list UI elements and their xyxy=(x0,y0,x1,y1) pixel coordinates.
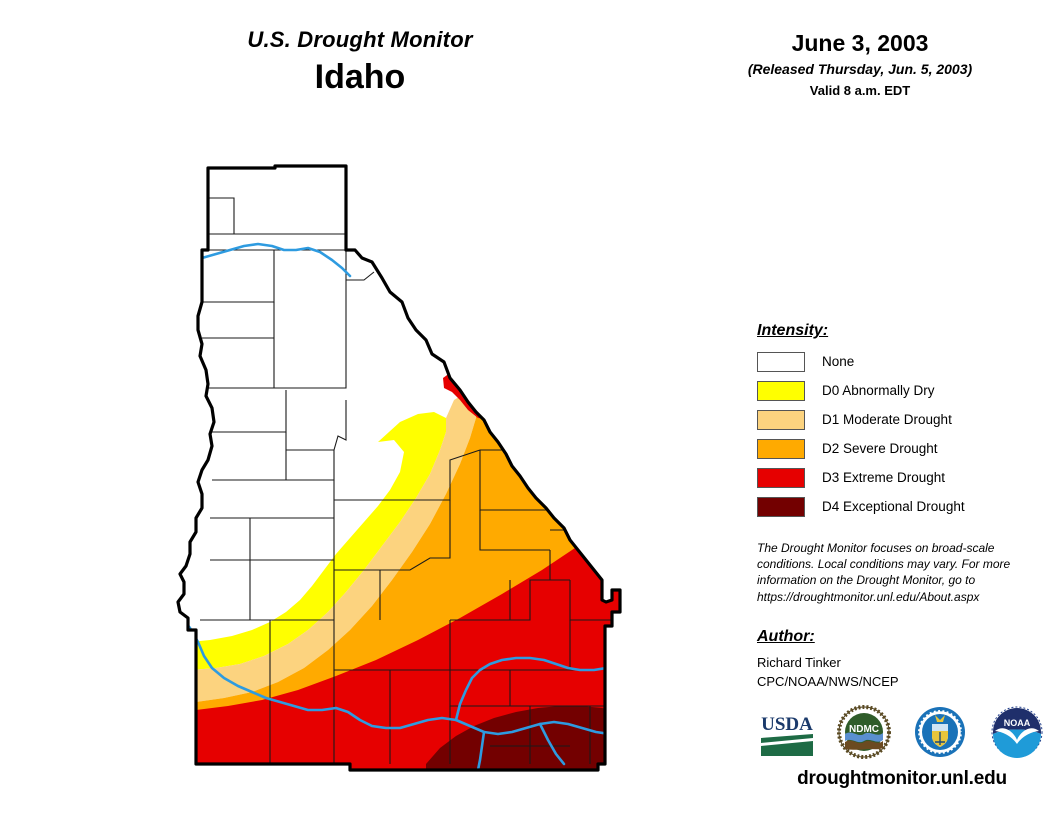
map-valid-time: Valid 8 a.m. EDT xyxy=(700,83,1020,99)
disclaimer-text: The Drought Monitor focuses on broad-sca… xyxy=(757,540,1035,605)
ndmc-logo[interactable]: NDMC xyxy=(834,704,894,760)
legend-item-d2: D2 Severe Drought xyxy=(757,437,1047,460)
map-release-date: (Released Thursday, Jun. 5, 2003) xyxy=(700,61,1020,78)
legend-swatch-d4 xyxy=(757,497,805,517)
commerce-seal-logo[interactable] xyxy=(910,704,970,760)
legend-item-d4: D4 Exceptional Drought xyxy=(757,495,1047,518)
legend-label-none: None xyxy=(822,354,854,369)
legend-heading: Intensity: xyxy=(757,322,1047,340)
author-panel: Author: Richard Tinker CPC/NOAA/NWS/NCEP xyxy=(757,628,1047,692)
idaho-drought-map xyxy=(150,150,650,810)
legend-label-d0: D0 Abnormally Dry xyxy=(822,383,935,398)
legend-swatch-d0 xyxy=(757,381,805,401)
legend-item-d0: D0 Abnormally Dry xyxy=(757,379,1047,402)
legend-item-d3: D3 Extreme Drought xyxy=(757,466,1047,489)
legend-label-d2: D2 Severe Drought xyxy=(822,441,938,456)
legend-swatch-d1 xyxy=(757,410,805,430)
author-name: Richard Tinker xyxy=(757,654,1047,673)
noaa-logo-text: NOAA xyxy=(1004,718,1031,728)
legend-label-d1: D1 Moderate Drought xyxy=(822,412,952,427)
usda-logo-text: USDA xyxy=(761,714,813,735)
legend-item-d1: D1 Moderate Drought xyxy=(757,408,1047,431)
legend-swatch-d3 xyxy=(757,468,805,488)
legend-item-none: None xyxy=(757,350,1047,373)
legend-label-d4: D4 Exceptional Drought xyxy=(822,499,965,514)
idaho-map-svg xyxy=(150,150,650,810)
map-date: June 3, 2003 xyxy=(700,30,1020,56)
legend-swatch-none xyxy=(757,352,805,372)
site-url[interactable]: droughtmonitor.unl.edu xyxy=(757,768,1047,790)
legend-label-d3: D3 Extreme Drought xyxy=(822,470,945,485)
header-title-block: U.S. Drought Monitor Idaho xyxy=(150,28,570,97)
legend-panel: Intensity: None D0 Abnormally Dry D1 Mod… xyxy=(757,322,1047,524)
ndmc-logo-text: NDMC xyxy=(849,724,879,735)
legend-swatch-d2 xyxy=(757,439,805,459)
header-date-block: June 3, 2003 (Released Thursday, Jun. 5,… xyxy=(700,30,1020,99)
page-title: U.S. Drought Monitor xyxy=(150,28,570,52)
page-subtitle-state: Idaho xyxy=(150,58,570,97)
author-affiliation: CPC/NOAA/NWS/NCEP xyxy=(757,673,1047,692)
logo-row: USDA NDMC NOAA xyxy=(757,703,1047,761)
noaa-logo[interactable]: NOAA xyxy=(987,704,1047,760)
author-heading: Author: xyxy=(757,628,1047,646)
usda-logo[interactable]: USDA xyxy=(757,704,817,760)
